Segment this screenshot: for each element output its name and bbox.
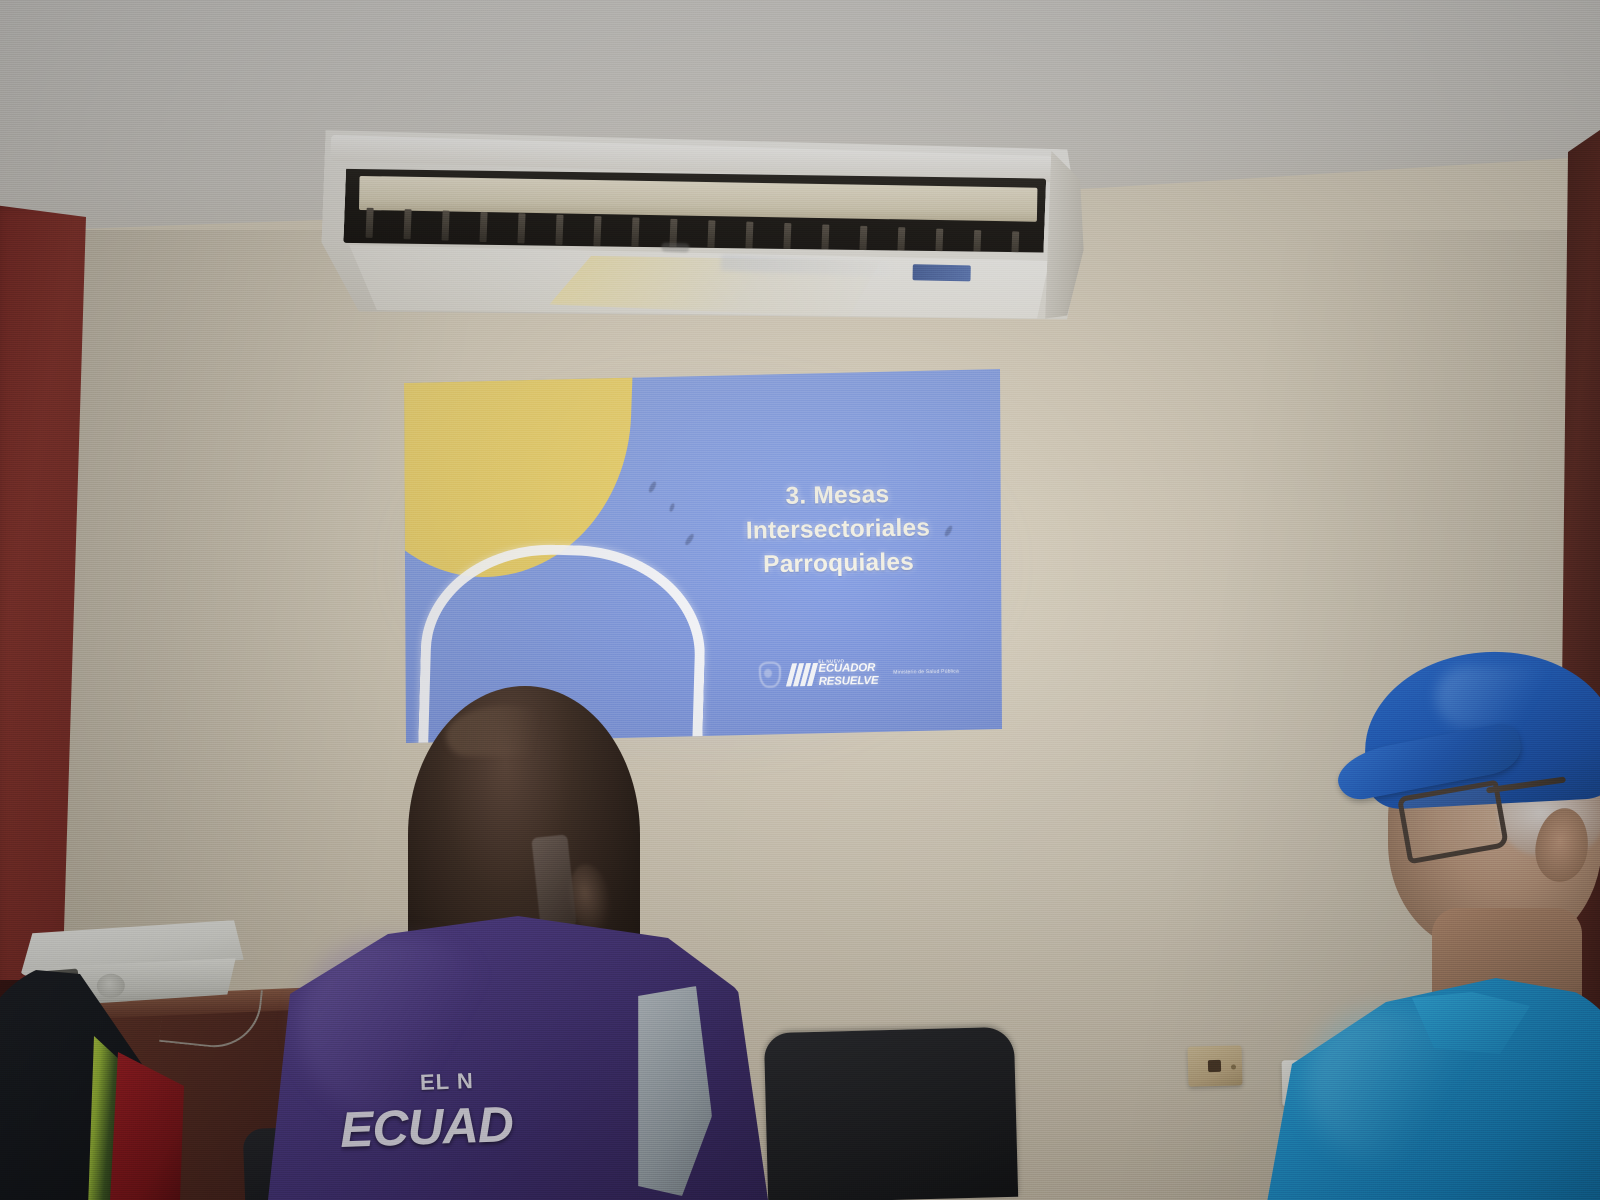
logo-line-2: RESUELVE — [819, 676, 879, 689]
ac-knob — [661, 243, 689, 253]
logo-line-1: ECUADOR — [818, 663, 878, 676]
black-chair-back — [764, 1027, 1018, 1200]
attendee-right-cap-highlight — [1436, 666, 1566, 728]
attendee-left — [0, 960, 230, 1200]
beige-wall-plate[interactable] — [1187, 1045, 1242, 1086]
ac-badge — [913, 264, 971, 281]
air-conditioner — [319, 122, 1086, 342]
slide-footer-logos: EL NUEVO ECUADOR RESUELVE Ministerio de … — [756, 649, 987, 697]
slide-title-line-2: Intersectoriales — [702, 510, 975, 549]
ministry-label: Ministerio de Salud Pública — [893, 668, 959, 675]
attendee-center: EL N ECUAD — [268, 686, 788, 1200]
ac-louver-blade — [359, 176, 1037, 222]
slide-title: 3. Mesas Intersectoriales Parroquiales — [701, 477, 975, 583]
attendee-center-shirt-text-2: ECUAD — [339, 1095, 514, 1159]
photo-scene: 3. Mesas Intersectoriales Parroquiales E… — [0, 0, 1600, 1200]
attendee-center-shirt-text-1: EL N — [420, 1068, 475, 1096]
ecuador-resuelve-logo: EL NUEVO ECUADOR RESUELVE — [789, 659, 879, 689]
slide-title-line-3: Parroquiales — [702, 544, 975, 583]
attendee-right — [1236, 640, 1600, 1200]
logo-bars-icon — [786, 662, 818, 686]
attendee-left-red-accent — [110, 1052, 184, 1200]
slide-title-line-1: 3. Mesas — [701, 477, 974, 516]
